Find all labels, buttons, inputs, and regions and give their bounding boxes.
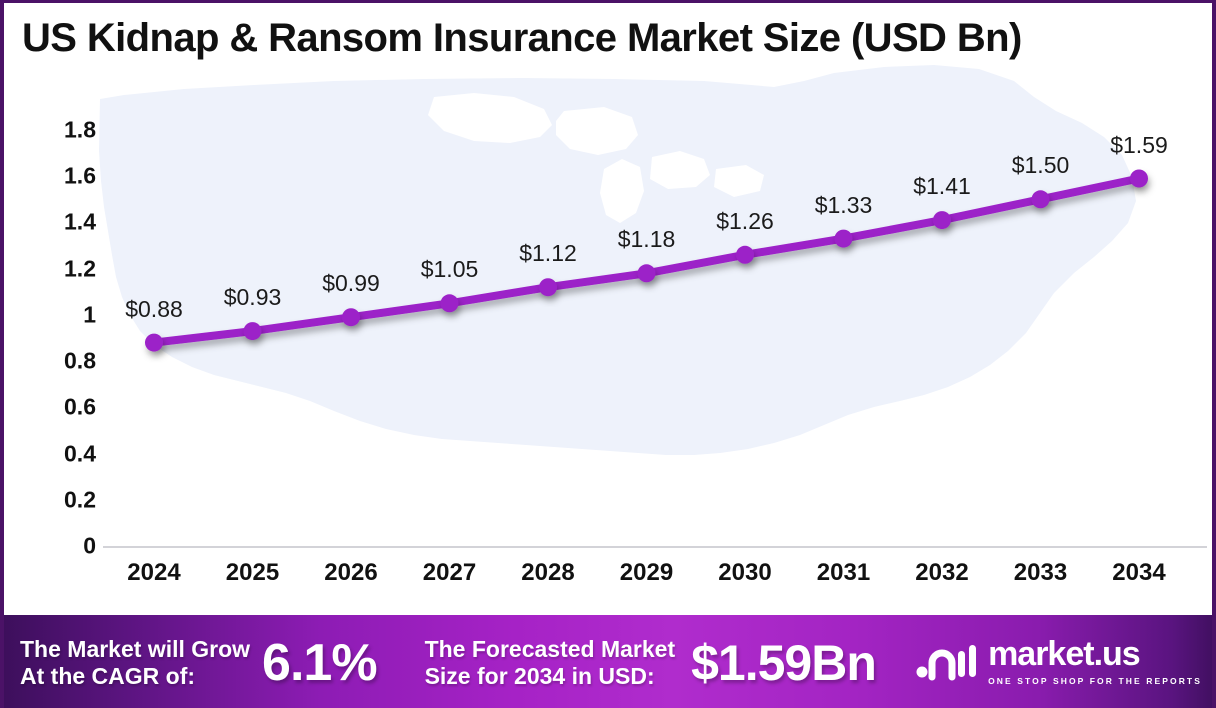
data-point-marker — [145, 334, 163, 352]
summary-banner: The Market will Grow At the CAGR of: 6.1… — [4, 615, 1216, 708]
data-point-label: $1.18 — [618, 226, 676, 253]
data-point-label: $1.50 — [1012, 152, 1070, 179]
data-point-label: $0.99 — [322, 270, 380, 297]
logo-tagline: ONE STOP SHOP FOR THE REPORTS — [988, 676, 1202, 686]
chart-canvas: US Kidnap & Ransom Insurance Market Size… — [0, 0, 1216, 708]
data-point-label: $1.33 — [815, 192, 873, 219]
forecast-caption: The Forecasted Market Size for 2034 in U… — [425, 636, 676, 690]
data-point-label: $1.59 — [1110, 132, 1168, 159]
data-point-label: $1.05 — [421, 256, 479, 283]
data-point-marker — [1130, 170, 1148, 188]
data-point-label: $1.41 — [913, 173, 971, 200]
series-line — [4, 3, 1216, 615]
data-point-label: $0.93 — [224, 284, 282, 311]
data-point-marker — [342, 308, 360, 326]
logo-text-group: market.us ONE STOP SHOP FOR THE REPORTS — [988, 637, 1202, 689]
data-point-marker — [835, 230, 853, 248]
cagr-value: 6.1% — [262, 633, 377, 693]
forecast-block: The Forecasted Market Size for 2034 in U… — [425, 634, 876, 692]
data-point-marker — [933, 211, 951, 229]
cagr-block: The Market will Grow At the CAGR of: 6.1… — [20, 633, 377, 693]
cagr-caption-line1: The Market will Grow — [20, 636, 250, 663]
data-point-marker — [441, 294, 459, 312]
plot-area: 1.8 1.6 1.4 1.2 1 0.8 0.6 0.4 0.2 0 2024… — [4, 3, 1216, 615]
data-point-marker — [244, 322, 262, 340]
logo-wordmark: market.us — [988, 635, 1140, 673]
forecast-caption-line1: The Forecasted Market — [425, 636, 676, 663]
forecast-value: $1.59Bn — [691, 634, 876, 692]
data-point-marker — [1032, 190, 1050, 208]
data-point-marker — [736, 246, 754, 264]
data-point-marker — [539, 278, 557, 296]
brand-logo[interactable]: market.us ONE STOP SHOP FOR THE REPORTS — [916, 637, 1202, 689]
forecast-caption-line2: Size for 2034 in USD: — [425, 663, 676, 690]
data-point-label: $1.12 — [519, 240, 577, 267]
data-point-label: $0.88 — [125, 296, 183, 323]
data-point-marker — [638, 264, 656, 282]
cagr-caption-line2: At the CAGR of: — [20, 663, 250, 690]
data-point-label: $1.26 — [716, 208, 774, 235]
cagr-caption: The Market will Grow At the CAGR of: — [20, 636, 250, 690]
market-us-logo-icon — [916, 639, 978, 688]
x-tick-label: 2034 — [1074, 559, 1204, 587]
